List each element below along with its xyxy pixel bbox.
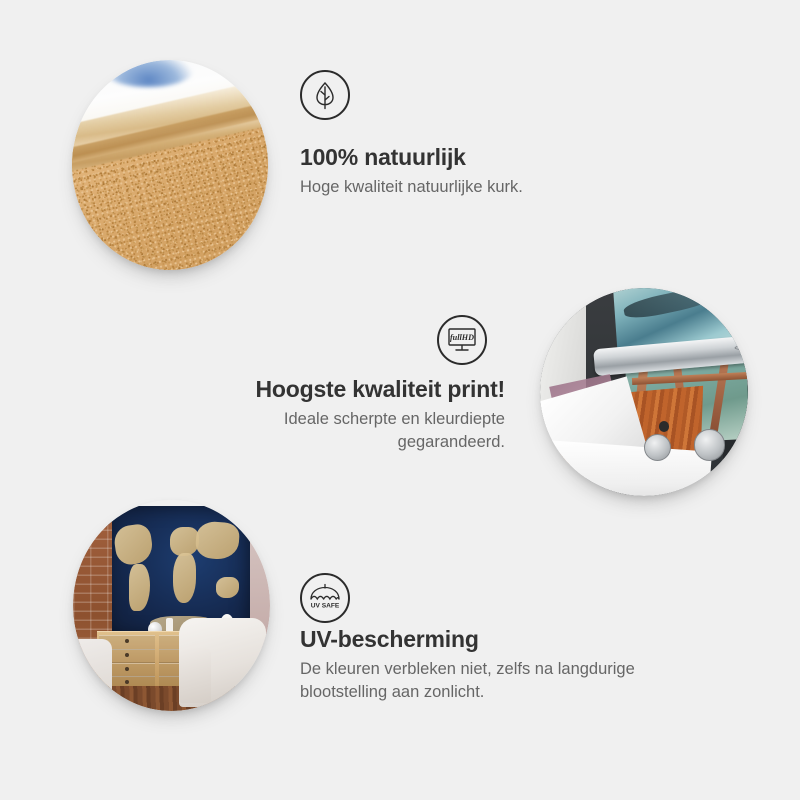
print-photo-knob-right [694, 429, 725, 460]
print-photo-knob-left [644, 434, 671, 461]
print-photo-roller-cap [734, 342, 748, 351]
fullhd-icon-label: fullHD [450, 333, 474, 342]
fullhd-monitor-icon: fullHD [437, 315, 487, 365]
feature-title-natural: 100% natuurlijk [300, 144, 700, 170]
map-continent-australia [216, 577, 239, 598]
dresser-knob [125, 680, 129, 684]
map-continent-south-america [129, 564, 149, 611]
print-photo-screw [659, 421, 669, 431]
map-continent-africa [173, 553, 196, 603]
dresser-knob [125, 667, 129, 671]
feature-text-print: Hoogste kwaliteit print! Ideale scherpte… [185, 376, 505, 453]
uv-safe-icon-label: UV SAFE [311, 603, 340, 610]
map-continent-north-america [113, 522, 155, 566]
print-photo-inner [540, 288, 748, 496]
uv-safe-umbrella-icon: UV SAFE [300, 573, 350, 623]
feature-text-natural: 100% natuurlijk Hoge kwaliteit natuurlij… [300, 144, 700, 199]
feature-description-print: Ideale scherpte en kleurdiepte gegarande… [185, 408, 505, 453]
printing-machine-photo [540, 288, 748, 496]
dresser-knob [125, 653, 129, 657]
room-photo-armchair-armrest [179, 648, 211, 703]
feature-banner: 100% natuurlijk Hoge kwaliteit natuurlij… [0, 0, 800, 800]
feature-text-uv: UV-bescherming De kleuren verbleken niet… [300, 626, 700, 703]
uv-safe-umbrella-icon-glyph: UV SAFE [307, 582, 343, 614]
feature-title-print: Hoogste kwaliteit print! [185, 376, 505, 402]
cork-board-closeup-photo [72, 60, 268, 270]
fullhd-monitor-icon-glyph: fullHD [446, 326, 478, 354]
map-continent-asia [194, 521, 240, 561]
room-photo-second-chair [73, 639, 112, 702]
leaf-icon-glyph [311, 80, 339, 110]
feature-description-natural: Hoge kwaliteit natuurlijke kurk. [300, 176, 700, 198]
cork-photo-inner [72, 60, 268, 270]
feature-description-uv: De kleuren verbleken niet, zelfs na lang… [300, 658, 700, 703]
map-continent-europe [170, 527, 199, 556]
room-photo-inner [73, 500, 270, 711]
living-room-world-map-photo [73, 500, 270, 711]
leaf-icon [300, 70, 350, 120]
feature-title-uv: UV-bescherming [300, 626, 700, 652]
